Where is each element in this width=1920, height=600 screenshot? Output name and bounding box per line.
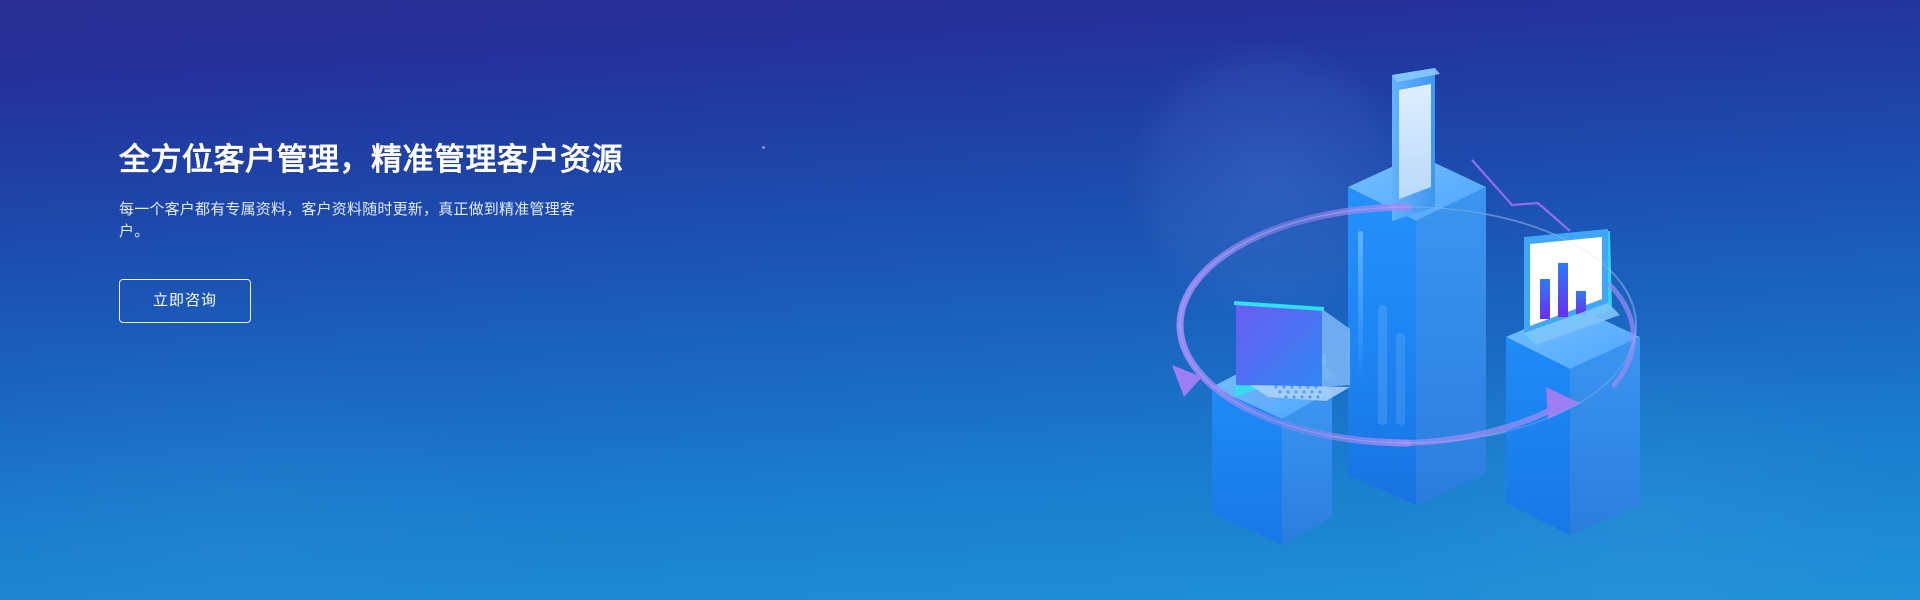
background-glow-left [0,330,580,600]
hero-illustration [1140,35,1680,575]
hero-subtitle: 每一个客户都有专属资料，客户资料随时更新，真正做到精准管理客户。 [119,199,599,243]
consult-now-button[interactable]: 立即咨询 [119,279,251,323]
background-speck [762,146,765,149]
connector-line [1472,160,1570,231]
page-title: 全方位客户管理，精准管理客户资源 [119,140,759,180]
hero-banner: 全方位客户管理，精准管理客户资源 每一个客户都有专属资料，客户资料随时更新，真正… [0,0,1920,600]
laptop-device [1234,301,1350,407]
hero-copy: 全方位客户管理，精准管理客户资源 每一个客户都有专属资料，客户资料随时更新，真正… [119,140,759,323]
tablet-device [1392,68,1440,221]
